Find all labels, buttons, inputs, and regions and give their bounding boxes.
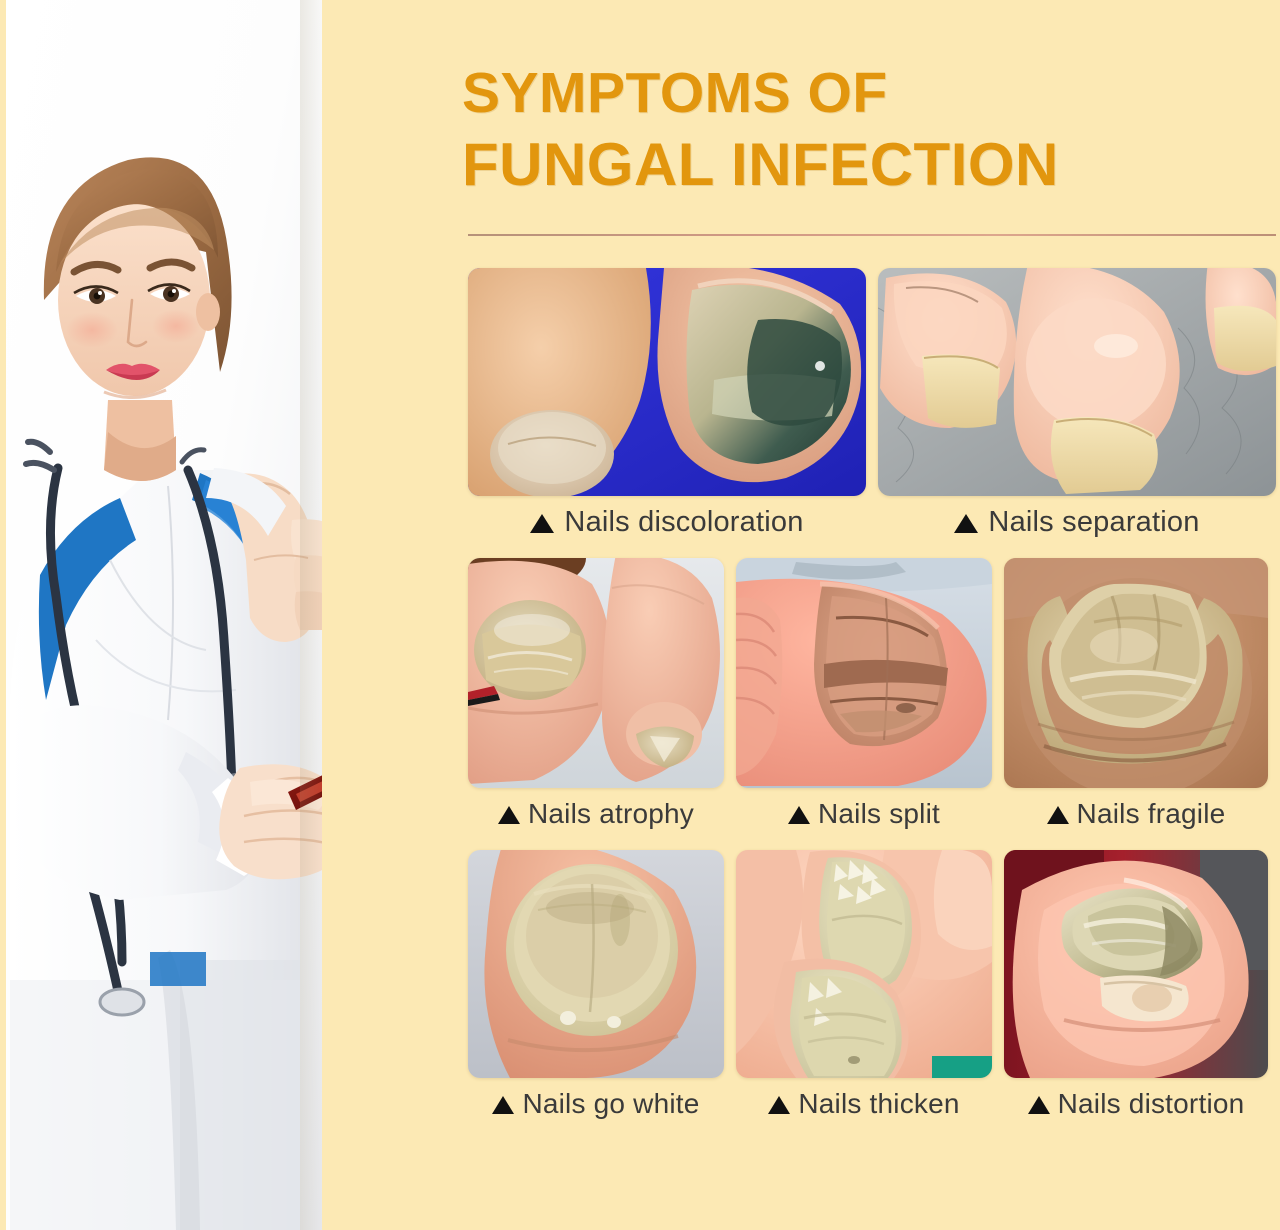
symptom-caption: Nails discoloration [468,496,866,548]
symptoms-grid: Nails discoloration [468,268,1280,1140]
doctor-panel [0,0,322,1230]
nail-separation-photo [878,268,1276,496]
symptom-label: Nails thicken [798,1090,959,1118]
symptom-label: Nails fragile [1077,800,1226,828]
triangle-bullet-icon [530,514,554,533]
symptom-caption: Nails fragile [1004,788,1268,840]
title-divider [468,234,1276,236]
nail-discoloration-photo [468,268,866,496]
doctor-illustration [0,0,322,1230]
symptom-caption: Nails thicken [736,1078,992,1130]
nail-fragile-photo [1004,558,1268,788]
content-area: SYMPTOMS OF FUNGAL INFECTION [322,0,1280,1230]
triangle-bullet-icon [768,1096,790,1114]
triangle-bullet-icon [788,806,810,824]
symptom-card-distortion[interactable]: Nails distortion [1004,850,1268,1130]
symptom-label: Nails split [818,800,940,828]
symptom-caption: Nails distortion [1004,1078,1268,1130]
symptom-label: Nails distortion [1058,1090,1245,1118]
symptom-card-thicken[interactable]: Nails thicken [736,850,992,1130]
symptoms-row-3: Nails go white [468,850,1280,1130]
symptom-card-atrophy[interactable]: Nails atrophy [468,558,724,840]
triangle-bullet-icon [1047,806,1069,824]
symptom-card-go-white[interactable]: Nails go white [468,850,724,1130]
triangle-bullet-icon [1028,1096,1050,1114]
triangle-bullet-icon [954,514,978,533]
title-line-2: FUNGAL INFECTION [462,128,1262,202]
symptom-card-split[interactable]: Nails split [736,558,992,840]
title-line-1: SYMPTOMS OF [462,58,1262,128]
infographic-poster: SYMPTOMS OF FUNGAL INFECTION [0,0,1280,1230]
stethoscope-diaphragm-2 [100,989,144,1015]
symptoms-row-2: Nails atrophy [468,558,1280,840]
page-title: SYMPTOMS OF FUNGAL INFECTION [462,58,1262,202]
symptom-card-separation[interactable]: Nails separation [878,268,1276,548]
symptom-caption: Nails split [736,788,992,840]
symptom-caption: Nails atrophy [468,788,724,840]
symptom-caption: Nails separation [878,496,1276,548]
symptom-card-fragile[interactable]: Nails fragile [1004,558,1268,840]
nail-white-photo [468,850,724,1078]
symptoms-row-1: Nails discoloration [468,268,1280,548]
triangle-bullet-icon [498,806,520,824]
triangle-bullet-icon [492,1096,514,1114]
symptom-card-discoloration[interactable]: Nails discoloration [468,268,866,548]
board-edge-shadow [300,0,322,1230]
symptom-caption: Nails go white [468,1078,724,1130]
nail-atrophy-photo [468,558,724,788]
nail-split-photo [736,558,992,788]
coat-belt [150,952,206,986]
nail-distortion-photo [1004,850,1268,1078]
head [44,157,232,397]
nail-thicken-photo [736,850,992,1078]
neck [104,400,176,481]
symptom-label: Nails atrophy [528,800,694,828]
symptom-label: Nails discoloration [564,508,803,537]
symptom-label: Nails separation [988,508,1199,537]
symptom-label: Nails go white [522,1090,699,1118]
